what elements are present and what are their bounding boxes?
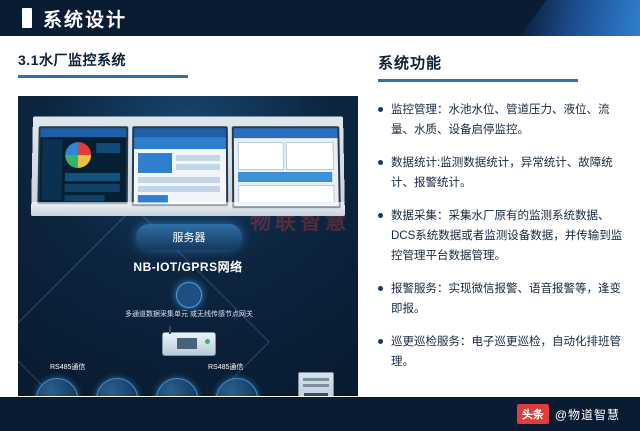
monitor-3-header	[234, 128, 338, 138]
monitor-2-row-3	[138, 177, 220, 183]
functions-title: 系统功能	[378, 52, 626, 73]
monitor-3-panel-a	[238, 142, 284, 170]
monitor-3-bar	[238, 172, 332, 182]
monitor-1-row-2	[65, 184, 120, 192]
cabinet-vent-1	[303, 378, 329, 381]
header-accent-bar	[22, 8, 32, 28]
functions-list: 监控管理：水池水位、管道压力、液位、流量、水质、设备启停监控。 数据统计:监测数…	[378, 100, 626, 372]
status-led-icon	[205, 339, 210, 344]
antenna-icon	[169, 326, 171, 334]
list-item: 监控管理：水池水位、管道压力、液位、流量、水质、设备启停监控。	[378, 100, 626, 140]
monitor-3-panel-c	[238, 185, 335, 203]
desk-surface	[31, 202, 345, 216]
device-item: 浊度计	[156, 378, 198, 396]
bullet-dot-icon	[378, 107, 383, 112]
bullet-dot-icon	[378, 160, 383, 165]
monitor-2-titlebar	[134, 128, 226, 137]
gateway-device	[162, 332, 216, 356]
list-item: 数据采集：采集水厂原有的监测系统数据、DCS系统数据或者监测设备数据，并传输到监…	[378, 206, 626, 266]
right-column: 系统功能 监控管理：水池水位、管道压力、液位、流量、水质、设备启停监控。 数据统…	[378, 52, 626, 385]
bullet-dot-icon	[378, 286, 383, 291]
slide-header: 系统设计	[0, 0, 640, 36]
footer-badge: 头条	[517, 404, 549, 424]
gateway-icon	[176, 282, 202, 308]
device-icon: 流量计	[96, 378, 138, 396]
device-row: 液位控位表 流量计 浊度计 水质监测设备	[36, 378, 336, 396]
monitor-1-row-1	[65, 173, 120, 181]
slide-footer: 头条 @物道智慧	[0, 397, 640, 431]
list-item: 数据统计:监测数据统计，异常统计、故障统计、报警统计。	[378, 153, 626, 193]
monitor-1-chart	[96, 143, 120, 153]
device-item: 流量计	[96, 378, 138, 396]
gateway-display	[177, 338, 197, 349]
footer-logo: 头条 @物道智慧	[517, 404, 620, 424]
monitor-screen-3	[232, 126, 341, 208]
monitor-3-panel-b	[286, 142, 334, 170]
section-title-underline	[18, 75, 188, 78]
monitor-2-row-4	[138, 186, 220, 192]
gateway-note: 多通道数据采集单元 或无线传感节点网关	[114, 310, 264, 320]
header-corner-accent	[520, 0, 640, 36]
architecture-diagram-panel: 方案经理 物联智慧	[18, 96, 358, 396]
bullet-dot-icon	[378, 339, 383, 344]
bullet-text: 报警服务：实现微信报警、语音报警等，逢变即报。	[391, 279, 626, 319]
bus-label-left: RS485通信	[50, 362, 85, 372]
monitor-screen-2	[132, 126, 228, 206]
footer-text: @物道智慧	[555, 406, 620, 423]
page-title: 系统设计	[43, 5, 127, 32]
monitor-2-panel-a	[138, 153, 172, 173]
bullet-text: 巡更巡检服务：电子巡更巡检，自动化排班管理。	[391, 332, 626, 372]
monitor-1-row-3	[64, 195, 104, 201]
bus-label-right: RS485通信	[208, 362, 243, 372]
control-cabinet: 控制柜等	[298, 372, 334, 396]
section-title: 3.1水厂监控系统	[18, 50, 358, 70]
left-column: 3.1水厂监控系统	[18, 50, 358, 78]
bullet-dot-icon	[378, 213, 383, 218]
device-item: 液位控位表	[36, 378, 78, 396]
device-icon: 液位控位表	[36, 378, 78, 396]
bullet-text: 数据统计:监测数据统计，异常统计、故障统计、报警统计。	[391, 153, 626, 193]
monitor-1-body	[39, 137, 126, 202]
monitoring-station-photo	[31, 116, 345, 216]
cabinet-display	[304, 393, 328, 396]
server-label: 服务器	[173, 229, 206, 245]
monitor-2-body	[134, 137, 226, 204]
monitor-1-sidebar	[41, 139, 62, 200]
network-label: NB-IOT/GPRS网络	[18, 258, 358, 275]
list-item: 报警服务：实现微信报警、语音报警等，逢变即报。	[378, 279, 626, 319]
monitor-screen-1	[37, 126, 128, 204]
device-icon: 浊度计	[156, 378, 198, 396]
monitor-2-row-2	[176, 164, 220, 170]
slide: 系统设计 3.1水厂监控系统 方案经理 物联智慧	[0, 0, 640, 431]
functions-title-underline	[378, 79, 578, 82]
device-icon: 水质监测设备	[216, 378, 258, 396]
server-node: 服务器	[136, 224, 242, 250]
list-item: 巡更巡检服务：电子巡更巡检，自动化排班管理。	[378, 332, 626, 372]
bullet-text: 监控管理：水池水位、管道压力、液位、流量、水质、设备启停监控。	[391, 100, 626, 140]
monitor-1-gauge	[65, 142, 91, 168]
monitor-2-header	[134, 137, 226, 149]
device-item: 水质监测设备	[216, 378, 258, 396]
bullet-text: 数据采集：采集水厂原有的监测系统数据、DCS系统数据或者监测设备数据，并传输到监…	[391, 206, 626, 266]
monitor-2-row-1	[176, 155, 220, 161]
monitor-1-titlebar	[41, 128, 127, 137]
cabinet-vent-2	[303, 384, 329, 387]
